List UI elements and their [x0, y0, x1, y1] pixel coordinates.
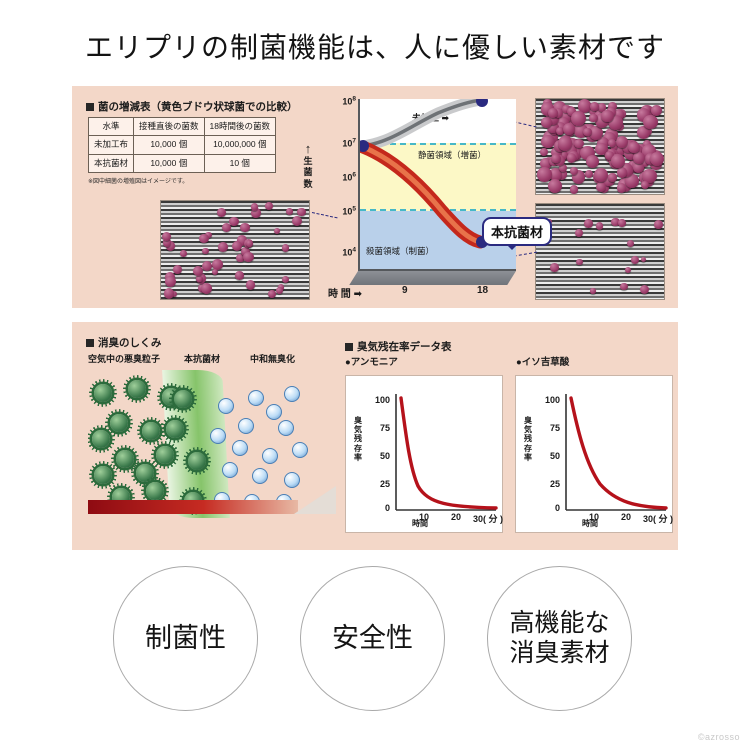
- table-cell: 10,000 個: [134, 154, 205, 172]
- table-footnote: ※図中細菌の増殖図はイメージです。: [88, 176, 188, 185]
- micrograph-treated: [535, 203, 665, 300]
- bacteria-dot: [202, 261, 212, 271]
- odor-particle: [146, 482, 164, 500]
- feature-label: 制菌性: [145, 623, 226, 655]
- feature-circle-safety: 安全性: [300, 566, 445, 711]
- xaxis-label: 時 間 ➡: [328, 285, 362, 300]
- table-cell: 10,000,000 個: [204, 136, 275, 154]
- feature-label: 高機能な消臭素材: [509, 609, 609, 668]
- neutralized-particle: [292, 442, 308, 458]
- bacteria-table: 水準 接種直後の菌数 18時間後の菌数 未加工布 10,000 個 10,000…: [88, 117, 276, 173]
- bacteria-dot: [570, 185, 579, 194]
- xtick: 30( 分 ): [643, 512, 673, 525]
- table-cell: 本抗菌材: [89, 154, 134, 172]
- bacteria-dot: [643, 115, 657, 129]
- neutralized-particle: [266, 404, 282, 420]
- bacteria-dot: [541, 117, 552, 128]
- bacteria-dot: [618, 219, 625, 226]
- bacteria-dot: [173, 265, 182, 274]
- bacteria-dot: [286, 208, 293, 215]
- odor-chart-isovaleric: 臭気残存率 100 75 50 25 0 10 20 30( 分 ) 時間: [515, 375, 673, 533]
- odor-particle: [92, 430, 110, 448]
- bacteria-dot: [548, 108, 558, 118]
- bacteria-dot: [297, 208, 305, 216]
- bacteria-dot: [558, 136, 573, 151]
- diagram-floor-wedge: [294, 486, 336, 514]
- right-arrow-icon: ➡: [354, 289, 362, 300]
- bacteria-dot: [180, 250, 187, 257]
- xtick: 18: [477, 285, 488, 296]
- odor-chart-xaxis-label: 時間: [412, 518, 428, 529]
- growth-graph-yaxis-label: ↑ 生 菌 数: [299, 142, 317, 190]
- bacteria-dot: [551, 154, 560, 163]
- micrograph-untreated: [535, 98, 665, 195]
- bacteria-dot: [654, 220, 663, 229]
- odor-chart-2-title: ●イソ吉草酸: [516, 354, 569, 368]
- ytick: 104: [342, 247, 356, 258]
- bacteria-dot: [276, 287, 283, 294]
- odor-particle: [156, 446, 174, 464]
- bacteria-dot: [196, 276, 202, 282]
- bacteria-dot: [620, 283, 627, 290]
- bacteria-dot: [590, 288, 595, 293]
- bacteria-dot: [640, 285, 649, 294]
- bacteria-dot: [222, 223, 231, 232]
- bacteria-dot: [608, 173, 616, 181]
- table-cell: 10,000 個: [134, 136, 205, 154]
- deo-label-left: 空気中の悪臭粒子: [88, 352, 160, 365]
- neutralized-particle: [262, 448, 278, 464]
- bacteria-dot: [274, 228, 280, 234]
- neutralized-particle: [252, 468, 268, 484]
- bacteria-dot: [251, 203, 258, 210]
- bacteria-dot: [586, 155, 599, 168]
- graph-plot-area: 静菌領域（増菌） 殺菌領域（制菌） 未加工 ➡ 本抗菌材 108 107 106…: [358, 99, 516, 271]
- bacteria-dot: [212, 269, 218, 275]
- ytick: 106: [342, 172, 356, 183]
- bacteria-dot: [218, 242, 228, 252]
- table-header-cell: 水準: [89, 118, 134, 136]
- bacteria-dot: [594, 168, 608, 182]
- neutralized-particle: [248, 390, 264, 406]
- bacteria-dot: [575, 229, 583, 237]
- bacteria-dot: [617, 183, 627, 193]
- table-header-cell: 18時間後の菌数: [204, 118, 275, 136]
- bacteria-dot: [282, 276, 289, 283]
- neutralized-particle: [238, 418, 254, 434]
- bacteria-section-heading: 菌の増減表（黄色ブドウ状球菌での比較）: [86, 99, 298, 114]
- watermark: ©azrosso: [698, 732, 740, 742]
- table-row: 未加工布 10,000 個 10,000,000 個: [89, 136, 276, 154]
- odor-data-section-heading: 臭気残在率データ表: [345, 339, 452, 354]
- xtick: 9: [402, 285, 408, 296]
- deodorize-diagram: 空気中の悪臭粒子 本抗菌材 中和無臭化: [88, 352, 336, 542]
- bacteria-dot: [585, 170, 593, 178]
- up-arrow-icon: ↑: [299, 142, 317, 155]
- ytick: 105: [342, 206, 356, 217]
- bacteria-dot: [217, 208, 226, 217]
- bacteria-dot: [627, 240, 634, 247]
- bacteria-dot: [590, 102, 599, 111]
- deodorize-section-heading: 消臭のしくみ: [86, 335, 161, 350]
- neutralized-particle: [232, 440, 248, 456]
- bacteria-dot: [583, 128, 592, 137]
- bacteria-dot: [282, 244, 289, 251]
- bacteria-dot: [576, 259, 583, 266]
- deo-label-middle: 本抗菌材: [184, 352, 220, 365]
- bacteria-dot: [199, 234, 208, 243]
- odor-particle-in-membrane: [174, 390, 192, 408]
- bacteria-dot: [240, 223, 249, 232]
- feature-label: 安全性: [332, 623, 413, 655]
- ytick: 107: [342, 138, 356, 149]
- neutralized-particle: [278, 420, 294, 436]
- odor-particle: [142, 422, 160, 440]
- bacteria-dot: [201, 283, 212, 294]
- graph-3d-base: [349, 271, 516, 285]
- xtick: 30( 分 ): [473, 512, 503, 525]
- bacteria-dot: [243, 252, 253, 262]
- bacteria-dot: [548, 179, 562, 193]
- page-title: エリプリの制菌機能は、人に優しい素材です: [0, 26, 750, 66]
- treated-material-callout: 本抗菌材: [482, 217, 552, 246]
- treated-curve-outer: [363, 147, 480, 242]
- table-cell: 未加工布: [89, 136, 134, 154]
- bacteria-dot: [625, 267, 632, 274]
- xtick: 20: [451, 512, 461, 522]
- feature-circle-antibacterial: 制菌性: [113, 566, 258, 711]
- ytick: 108: [342, 96, 356, 107]
- bacteria-dot: [537, 167, 552, 182]
- diagram-floor: [88, 500, 298, 514]
- bacteria-dot: [589, 114, 598, 123]
- feature-circle-deodorant: 高機能な消臭素材: [487, 566, 632, 711]
- odor-chart-1-title: ●アンモニア: [345, 354, 398, 368]
- odor-particle: [94, 384, 112, 402]
- bacteria-dot: [202, 248, 208, 254]
- odor-decay-curve: [401, 398, 496, 508]
- odor-curve-svg: [516, 376, 674, 534]
- bacteria-dot: [165, 276, 176, 287]
- growth-graph: 静菌領域（増菌） 殺菌領域（制菌） 未加工 ➡ 本抗菌材 108 107 106…: [322, 95, 522, 300]
- odor-particle: [128, 380, 146, 398]
- odor-curve-svg: [346, 376, 504, 534]
- deo-label-right: 中和無臭化: [250, 352, 295, 365]
- bacteria-dot: [584, 219, 593, 228]
- bacteria-dot: [193, 266, 203, 276]
- bacteria-dot: [265, 202, 273, 210]
- odor-particle-in-membrane: [188, 452, 206, 470]
- neutralized-particle: [218, 398, 234, 414]
- bacteria-dot: [570, 167, 578, 175]
- bacteria-dot: [641, 257, 646, 262]
- xtick: 20: [621, 512, 631, 522]
- bacteria-dot: [601, 110, 614, 123]
- odor-decay-curve: [571, 398, 666, 508]
- infographic-page: エリプリの制菌機能は、人に優しい素材です 菌の増減表（黄色ブドウ状球菌での比較）…: [0, 0, 750, 750]
- bacteria-dot: [235, 271, 244, 280]
- table-header-row: 水準 接種直後の菌数 18時間後の菌数: [89, 118, 276, 136]
- micrograph-treated-left: [160, 200, 310, 300]
- bacteria-dot: [268, 290, 276, 298]
- yaxis-label-text: 生: [303, 156, 312, 166]
- neutralized-particle: [210, 428, 226, 444]
- bacteria-dot: [164, 288, 174, 298]
- odor-particle-in-membrane: [166, 420, 184, 438]
- bacteria-dot: [540, 148, 548, 156]
- bacteria-dot: [292, 216, 302, 226]
- bacteria-dot: [246, 280, 255, 289]
- odor-particle: [110, 414, 128, 432]
- bacteria-dot: [550, 263, 559, 272]
- odor-chart-ammonia: 臭気残存率 100 75 50 25 0 10 20 30( 分 ) 時間: [345, 375, 503, 533]
- bacteria-dot: [567, 153, 577, 163]
- table-header-cell: 接種直後の菌数: [134, 118, 205, 136]
- table-cell: 10 個: [204, 154, 275, 172]
- bacteria-dot: [162, 232, 171, 241]
- bacteria-dot: [631, 256, 639, 264]
- bacteria-dot: [650, 152, 664, 166]
- odor-particle: [94, 466, 112, 484]
- bacteria-dot: [541, 135, 555, 149]
- odor-particle: [116, 450, 134, 468]
- deo-stage: [88, 370, 336, 518]
- odor-chart-xaxis-label: 時間: [582, 518, 598, 529]
- neutralized-particle: [222, 462, 238, 478]
- bacteria-dot: [596, 222, 604, 230]
- table-row: 本抗菌材 10,000 個 10 個: [89, 154, 276, 172]
- bacteria-dot: [641, 181, 649, 189]
- neutralized-particle: [284, 386, 300, 402]
